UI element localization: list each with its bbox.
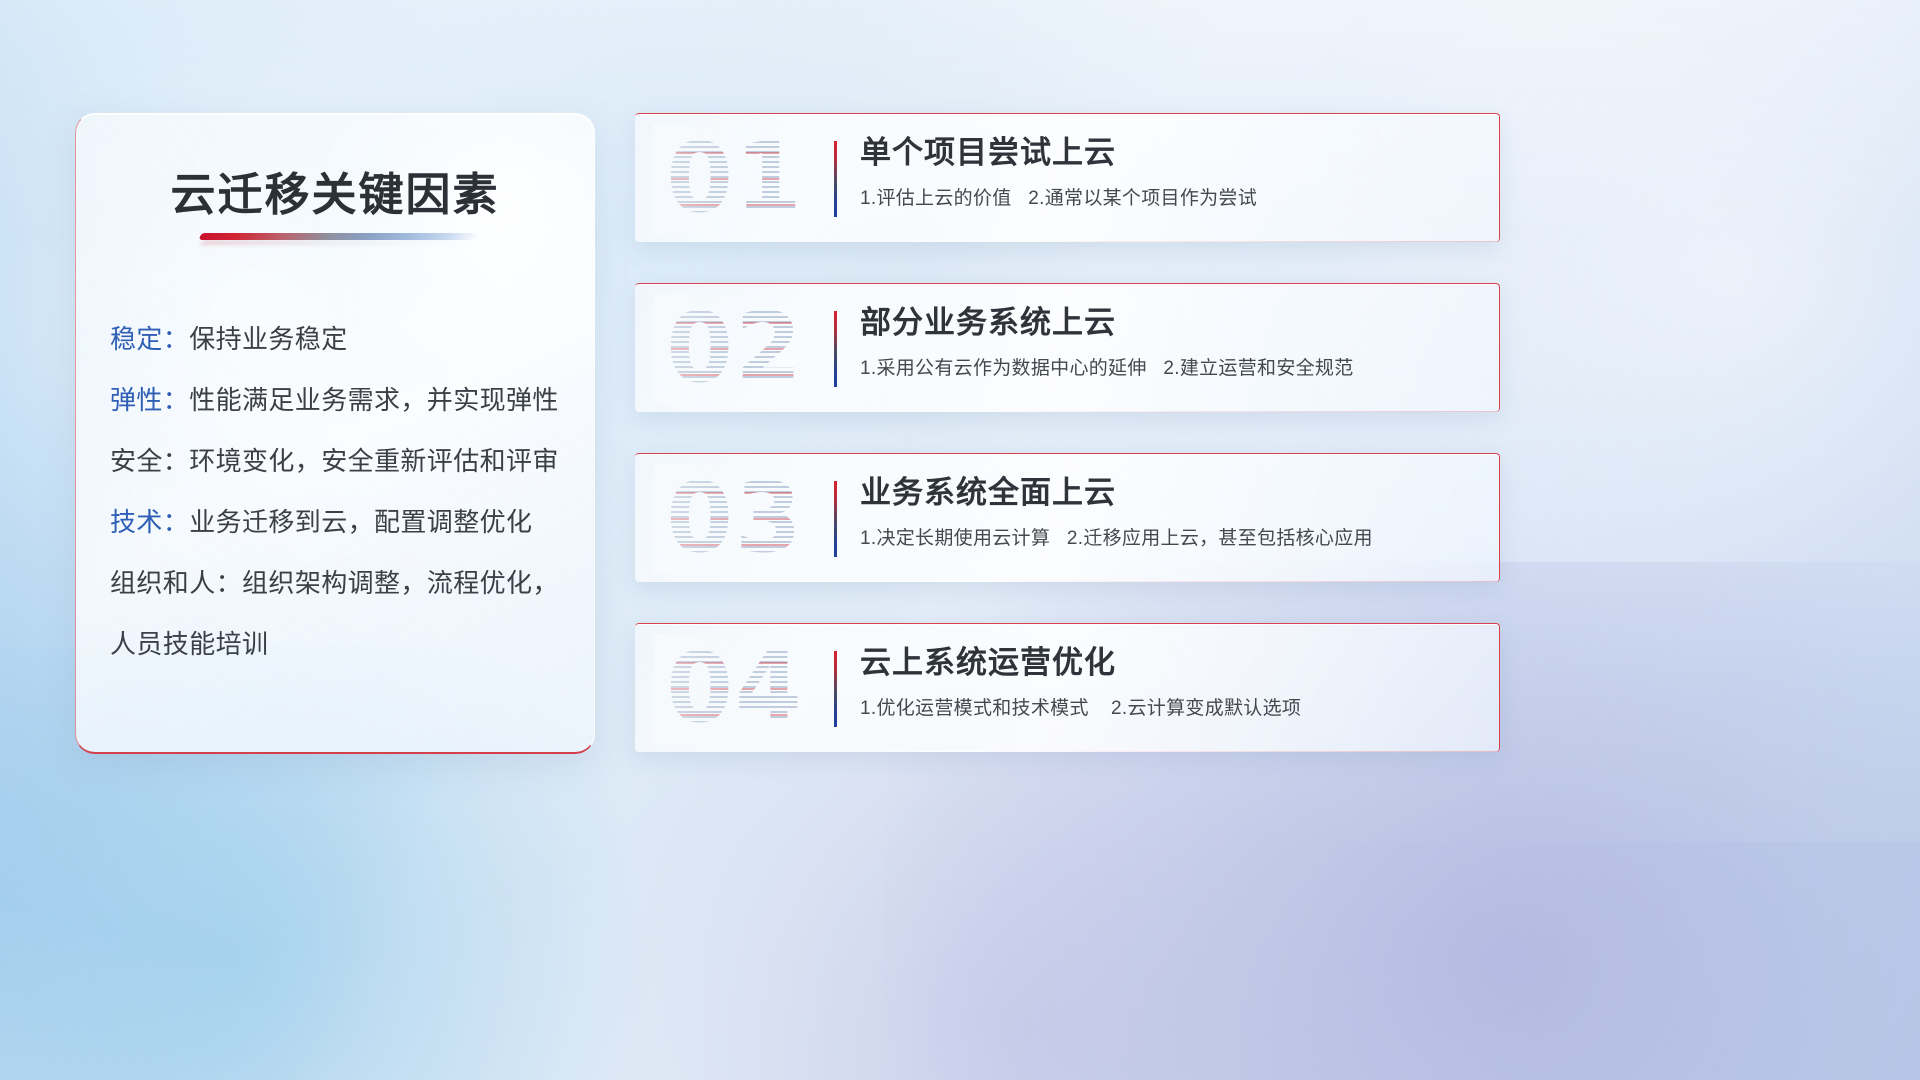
card-subtitle: 1.决定长期使用云计算 2.迁移应用上云，甚至包括核心应用 <box>860 525 1477 553</box>
factor-row: 人员技能培训 <box>110 614 566 675</box>
card-body: 部分业务系统上云1.采用公有云作为数据中心的延伸 2.建立运营和安全规范 <box>860 300 1477 383</box>
factor-value: 性能满足业务需求，并实现弹性 <box>189 385 559 415</box>
factor-value: 组织架构调整，流程优化， <box>242 568 559 598</box>
factor-label: 弹性： <box>110 385 189 415</box>
card-body: 业务系统全面上云1.决定长期使用云计算 2.迁移应用上云，甚至包括核心应用 <box>860 470 1477 553</box>
card-accent-divider <box>834 141 837 217</box>
factor-row: 技术：业务迁移到云，配置调整优化 <box>110 492 566 553</box>
stage-card[interactable]: 0202部分业务系统上云1.采用公有云作为数据中心的延伸 2.建立运营和安全规范 <box>635 283 1500 412</box>
title-underline-shadow <box>201 240 475 245</box>
factor-row: 稳定：保持业务稳定 <box>110 309 566 370</box>
card-subtitle: 1.优化运营模式和技术模式 2.云计算变成默认选项 <box>860 695 1477 723</box>
card-subtitle: 1.采用公有云作为数据中心的延伸 2.建立运营和安全规范 <box>860 355 1477 383</box>
page-title: 云迁移关键因素 <box>76 158 594 223</box>
card-accent-divider <box>834 651 837 727</box>
stage-number-red-stripes: 03 <box>655 466 815 570</box>
card-title: 部分业务系统上云 <box>860 300 1477 346</box>
card-title: 云上系统运营优化 <box>860 640 1477 686</box>
stage-card[interactable]: 0101单个项目尝试上云1.评估上云的价值 2.通常以某个项目作为尝试 <box>635 113 1500 242</box>
factor-row: 弹性：性能满足业务需求，并实现弹性 <box>110 370 566 431</box>
key-factors-panel: 云迁移关键因素 稳定：保持业务稳定弹性：性能满足业务需求，并实现弹性安全：环境变… <box>75 113 595 754</box>
factor-value: 业务迁移到云，配置调整优化 <box>189 507 532 537</box>
title-underline-accent <box>199 233 480 240</box>
factor-value: 环境变化，安全重新评估和评审 <box>189 446 559 476</box>
factor-label: 稳定： <box>110 324 189 354</box>
card-accent-divider <box>834 481 837 557</box>
stage-card-list: 0101单个项目尝试上云1.评估上云的价值 2.通常以某个项目作为尝试0202部… <box>635 113 1500 793</box>
factor-value: 保持业务稳定 <box>189 324 347 354</box>
card-body: 云上系统运营优化1.优化运营模式和技术模式 2.云计算变成默认选项 <box>860 640 1477 723</box>
factor-row: 组织和人：组织架构调整，流程优化， <box>110 553 566 614</box>
stage-card[interactable]: 0303业务系统全面上云1.决定长期使用云计算 2.迁移应用上云，甚至包括核心应… <box>635 453 1500 582</box>
factor-value: 人员技能培训 <box>110 629 268 659</box>
stage-number-red-stripes: 04 <box>655 636 815 740</box>
factor-label: 安全： <box>110 446 189 476</box>
factor-label: 组织和人： <box>110 568 242 598</box>
card-accent-divider <box>834 311 837 387</box>
stage-card[interactable]: 0404云上系统运营优化1.优化运营模式和技术模式 2.云计算变成默认选项 <box>635 623 1500 752</box>
factor-label: 技术： <box>110 507 189 537</box>
card-body: 单个项目尝试上云1.评估上云的价值 2.通常以某个项目作为尝试 <box>860 130 1477 213</box>
card-title: 单个项目尝试上云 <box>860 130 1477 176</box>
card-subtitle: 1.评估上云的价值 2.通常以某个项目作为尝试 <box>860 185 1477 213</box>
card-title: 业务系统全面上云 <box>860 470 1477 516</box>
stage-number-red-stripes: 02 <box>655 296 815 400</box>
factor-row: 安全：环境变化，安全重新评估和评审 <box>110 431 566 492</box>
stage-number-red-stripes: 01 <box>655 126 815 230</box>
factor-list: 稳定：保持业务稳定弹性：性能满足业务需求，并实现弹性安全：环境变化，安全重新评估… <box>110 309 566 675</box>
